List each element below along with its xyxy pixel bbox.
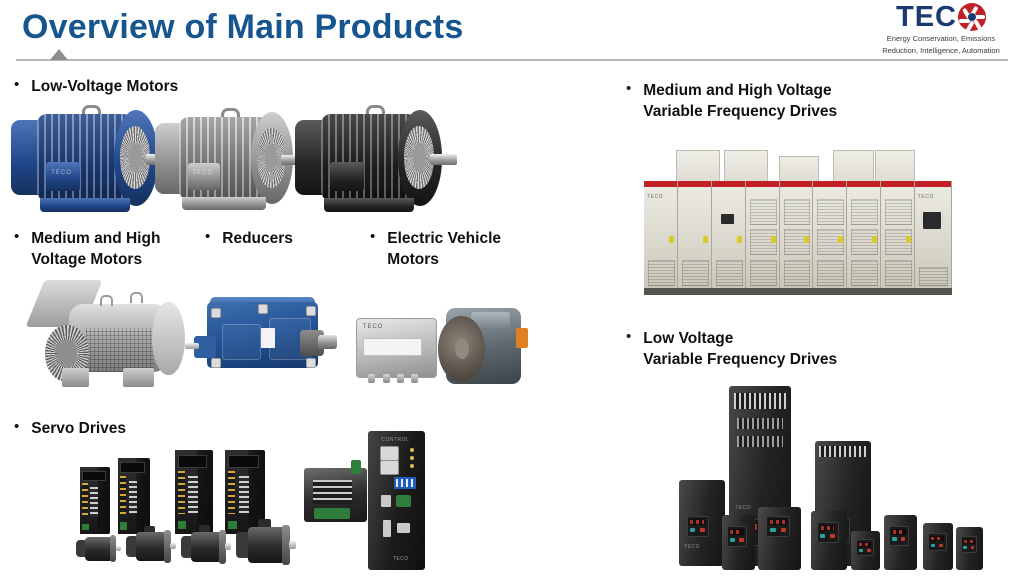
image-mv-hv-vfd-cabinets: TECO bbox=[638, 150, 958, 298]
image-lv-motor-silver: TECO bbox=[152, 103, 302, 218]
bullet-dot-icon: • bbox=[14, 76, 19, 94]
image-servo-controller-large: CONTROL TECO bbox=[362, 428, 432, 576]
bullet-dot-icon: • bbox=[626, 328, 631, 346]
bullet-electric-vehicle-motors: • Electric Vehicle Motors bbox=[370, 228, 501, 270]
bullet-label: Reducers bbox=[222, 228, 293, 249]
cabinet-brand-label: TECO bbox=[647, 194, 663, 200]
teco-fan-icon bbox=[958, 3, 986, 31]
motor-brand-label: TECO bbox=[193, 170, 214, 176]
bullet-servo-drives: • Servo Drives bbox=[14, 418, 126, 439]
bullet-lv-vfd: • Low Voltage Variable Frequency Drives bbox=[626, 328, 837, 370]
page-title: Overview of Main Products bbox=[22, 8, 463, 47]
bullet-dot-icon: • bbox=[370, 228, 375, 246]
image-servo-controller-small bbox=[300, 462, 370, 532]
bullet-label: Low Voltage Variable Frequency Drives bbox=[643, 328, 837, 370]
logo-mark: TEC bbox=[866, 2, 1016, 32]
controller-brand-label: TECO bbox=[363, 324, 384, 330]
bullet-label: Servo Drives bbox=[31, 418, 126, 439]
vfd-brand-label: TECO bbox=[684, 544, 700, 550]
image-reducer bbox=[185, 288, 340, 388]
logo-tagline-line1: Energy Conservation, Emissions bbox=[866, 34, 1016, 44]
bullet-low-voltage-motors: • Low-Voltage Motors bbox=[14, 76, 178, 97]
controller-brand-label: TECO bbox=[393, 556, 409, 562]
image-servo-drives-group bbox=[70, 448, 320, 568]
bullet-dot-icon: • bbox=[205, 228, 210, 246]
image-lv-motor-black bbox=[292, 100, 452, 220]
logo-wordmark: TEC bbox=[896, 2, 957, 32]
bullet-label: Electric Vehicle Motors bbox=[387, 228, 501, 270]
bullet-dot-icon: • bbox=[14, 418, 19, 436]
bullet-mv-hv-vfd: • Medium and High Voltage Variable Frequ… bbox=[626, 80, 837, 122]
bullet-label: Medium and High Voltage Motors bbox=[31, 228, 160, 270]
image-lv-motor-blue: TECO bbox=[8, 100, 168, 220]
bullet-medium-high-voltage-motors: • Medium and High Voltage Motors bbox=[14, 228, 160, 270]
title-divider bbox=[16, 59, 1008, 61]
image-lv-vfd-family: TECO TECO bbox=[666, 378, 996, 574]
logo-tagline-line2: Reduction, Intelligence, Automation bbox=[866, 46, 1016, 56]
image-electric-vehicle-motor-set: TECO bbox=[352, 298, 532, 398]
bullet-label: Low-Voltage Motors bbox=[31, 76, 178, 97]
bullet-label: Medium and High Voltage Variable Frequen… bbox=[643, 80, 837, 122]
vfd-brand-label: TECO bbox=[735, 505, 751, 511]
teco-logo: TEC Energy Conservation, Emissions Reduc… bbox=[866, 2, 1016, 56]
motor-brand-label: TECO bbox=[51, 170, 72, 176]
bullet-dot-icon: • bbox=[14, 228, 19, 246]
bullet-reducers: • Reducers bbox=[205, 228, 293, 249]
bullet-dot-icon: • bbox=[626, 80, 631, 98]
cabinet-brand-label: TECO bbox=[918, 194, 934, 200]
image-medium-high-voltage-motor bbox=[18, 278, 188, 396]
title-triangle-marker-icon bbox=[50, 49, 68, 60]
